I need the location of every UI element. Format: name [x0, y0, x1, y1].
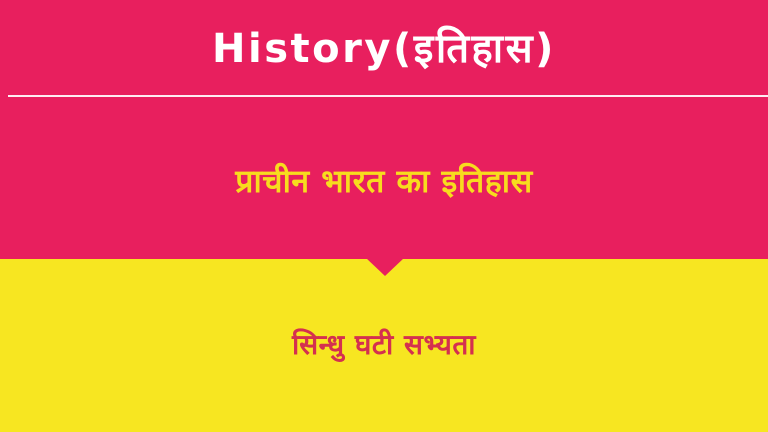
title-container: History(इतिहास)	[0, 15, 768, 83]
slide-canvas: History(इतिहास) प्राचीन भारत का इतिहास स…	[0, 0, 768, 432]
page-title: History(इतिहास)	[212, 27, 556, 71]
title-divider-rule	[8, 95, 768, 97]
subtitle-container: प्राचीन भारत का इतिहास	[0, 152, 768, 208]
subject-subtitle: प्राचीन भारत का इतिहास	[235, 159, 532, 202]
downward-arrow-icon	[366, 258, 404, 276]
topic-container: सिन्धु घटी सभ्यता	[0, 318, 768, 370]
topic-heading: सिन्धु घटी सभ्यता	[292, 325, 476, 363]
